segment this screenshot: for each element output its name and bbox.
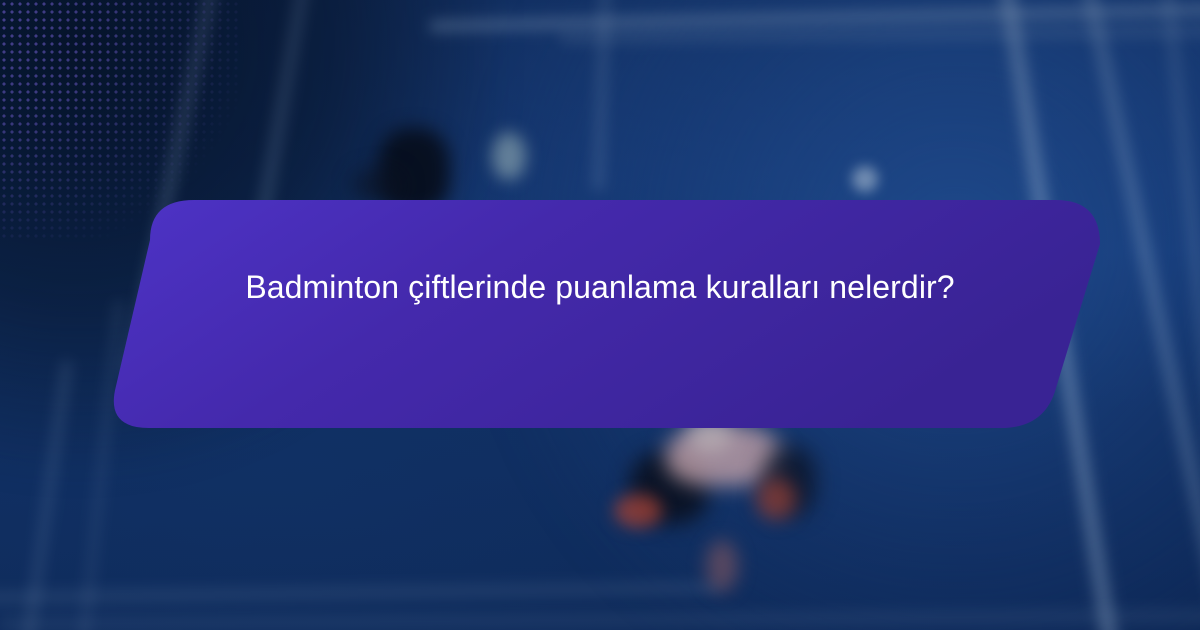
question-text: Badminton çiftlerinde puanlama kuralları… [160,258,1040,316]
share-card-canvas: Badminton çiftlerinde puanlama kuralları… [0,0,1200,630]
question-card-layer: Badminton çiftlerinde puanlama kuralları… [0,0,1200,630]
